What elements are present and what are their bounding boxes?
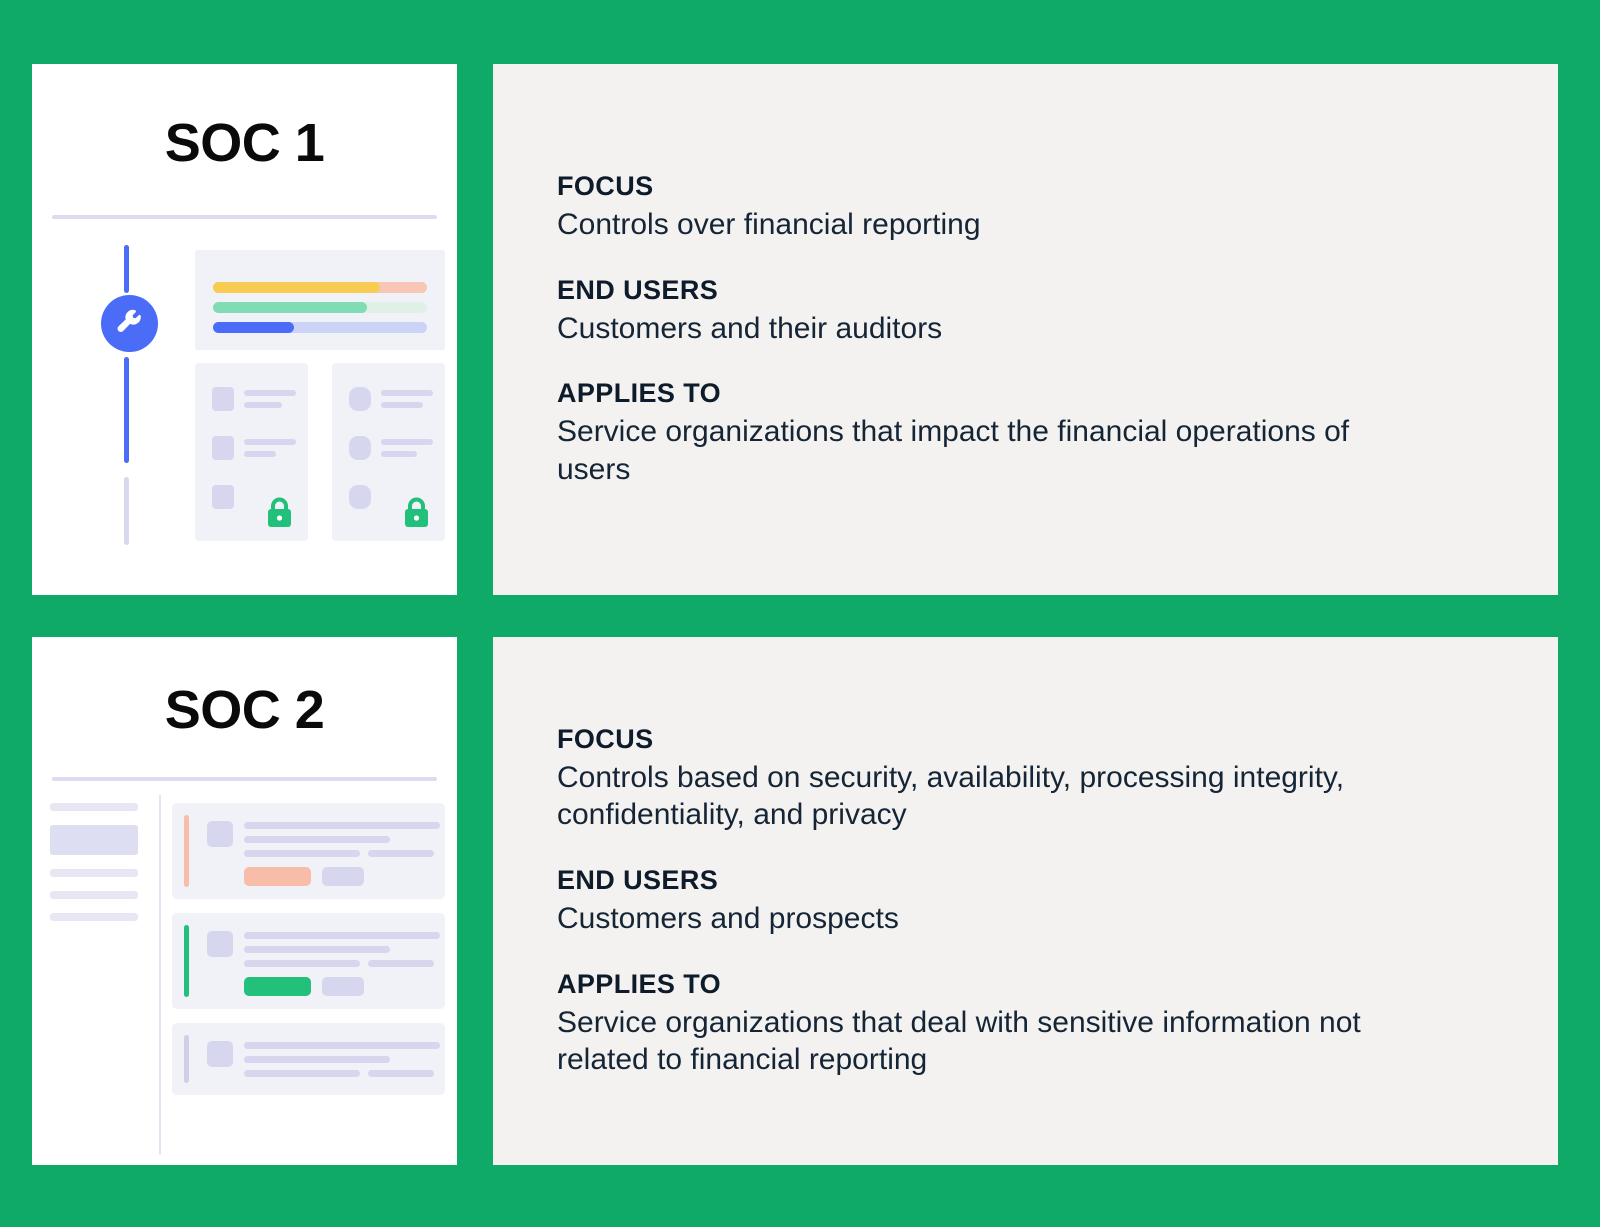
soc1-focus-value: Controls over financial reporting — [557, 206, 1377, 244]
list-item-thumbnail — [349, 387, 371, 411]
soc1-title-divider — [52, 215, 437, 219]
soc2-end-users-value: Customers and prospects — [557, 900, 1407, 938]
lock-icon — [403, 497, 430, 529]
soc2-row-list — [172, 803, 445, 1109]
soc2-title: SOC 2 — [32, 683, 457, 737]
timeline-segment-top — [124, 245, 129, 293]
timeline-track — [94, 245, 164, 545]
row-status-pill — [244, 867, 311, 886]
row-status-pill — [244, 977, 311, 996]
row-accent-bar — [184, 1035, 189, 1083]
soc1-end-users-block: END USERS Customers and their auditors — [557, 274, 1510, 348]
end-users-label: END USERS — [557, 274, 1510, 308]
list-item — [172, 1023, 445, 1095]
timeline-segment-middle — [124, 357, 129, 463]
list-item — [172, 803, 445, 899]
focus-label: FOCUS — [557, 723, 1510, 757]
list-item-thumbnail — [212, 436, 234, 460]
soc1-illustration — [32, 245, 457, 565]
applies-to-label: APPLIES TO — [557, 377, 1510, 411]
sidebar-item-active — [50, 825, 138, 855]
timeline-segment-bottom — [124, 477, 129, 545]
soc1-focus-block: FOCUS Controls over financial reporting — [557, 170, 1510, 244]
focus-label: FOCUS — [557, 170, 1510, 204]
infographic-page: SOC 1 — [0, 0, 1600, 1227]
soc1-row: SOC 1 — [32, 64, 1558, 595]
soc2-focus-block: FOCUS Controls based on security, availa… — [557, 723, 1510, 834]
progress-bars-panel — [195, 250, 445, 350]
soc2-focus-value: Controls based on security, availability… — [557, 759, 1407, 835]
row-thumbnail — [207, 1041, 233, 1067]
end-users-label: END USERS — [557, 864, 1510, 898]
row-accent-bar — [184, 925, 189, 997]
soc1-applies-to-value: Service organizations that impact the fi… — [557, 413, 1377, 489]
soc2-end-users-block: END USERS Customers and prospects — [557, 864, 1510, 938]
sidebar-item — [50, 891, 138, 899]
soc2-row: SOC 2 — [32, 637, 1558, 1165]
progress-bar-yellow — [213, 282, 427, 293]
soc1-title: SOC 1 — [32, 116, 457, 170]
row-thumbnail — [207, 931, 233, 957]
soc2-applies-to-value: Service organizations that deal with sen… — [557, 1004, 1407, 1080]
soc2-sidebar — [50, 803, 138, 935]
soc1-end-users-value: Customers and their auditors — [557, 310, 1377, 348]
sidebar-divider — [159, 795, 161, 1155]
soc1-applies-to-block: APPLIES TO Service organizations that im… — [557, 377, 1510, 488]
lock-icon — [266, 497, 293, 529]
list-item-thumbnail — [349, 485, 371, 509]
row-secondary-pill — [322, 977, 364, 996]
soc2-illustration — [32, 789, 457, 1165]
sidebar-item — [50, 913, 138, 921]
soc2-detail-panel: FOCUS Controls based on security, availa… — [493, 637, 1558, 1165]
row-accent-bar — [184, 815, 189, 887]
progress-bar-blue — [213, 322, 427, 333]
control-list-card-right — [332, 363, 445, 541]
control-list-card-left — [195, 363, 308, 541]
row-thumbnail — [207, 821, 233, 847]
wrench-icon — [101, 295, 158, 352]
list-item-thumbnail — [349, 436, 371, 460]
row-secondary-pill — [322, 867, 364, 886]
list-item — [172, 913, 445, 1009]
soc1-detail-panel: FOCUS Controls over financial reporting … — [493, 64, 1558, 595]
soc1-illustration-card: SOC 1 — [32, 64, 457, 595]
list-item-thumbnail — [212, 387, 234, 411]
soc2-applies-to-block: APPLIES TO Service organizations that de… — [557, 968, 1510, 1079]
soc2-title-divider — [52, 777, 437, 781]
sidebar-item — [50, 869, 138, 877]
sidebar-item — [50, 803, 138, 811]
progress-bar-mint — [213, 302, 427, 313]
soc2-illustration-card: SOC 2 — [32, 637, 457, 1165]
list-item-thumbnail — [212, 485, 234, 509]
applies-to-label: APPLIES TO — [557, 968, 1510, 1002]
